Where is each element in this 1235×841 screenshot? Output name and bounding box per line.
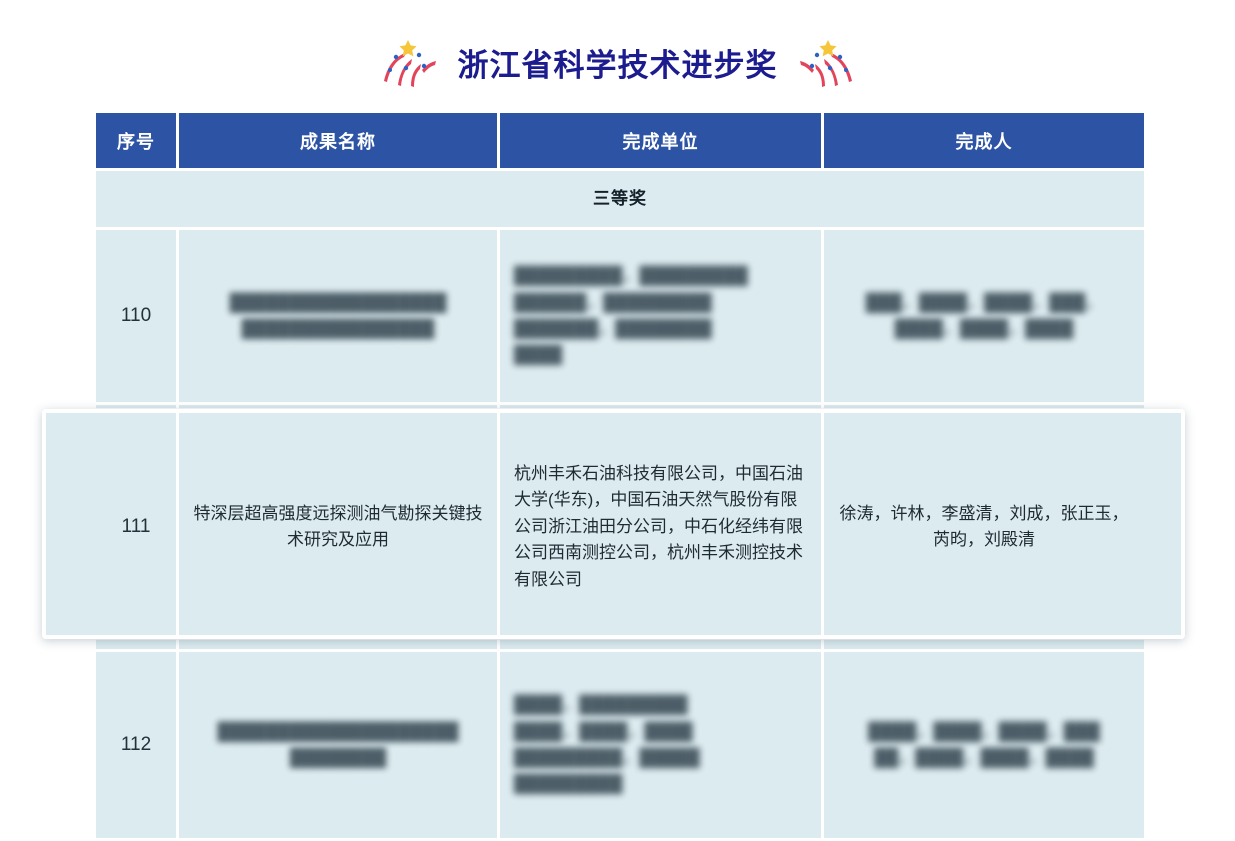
firework-icon-left (378, 37, 440, 93)
redacted-text: █████████ (514, 774, 622, 793)
award-table: 序号 成果名称 完成单位 完成人 三等奖 110 ███████████████… (93, 110, 1147, 841)
column-header-unit: 完成单位 (500, 113, 821, 168)
award-group-row: 三等奖 (96, 171, 1144, 227)
page-title-bar: 浙江省科学技术进步奖 (0, 34, 1235, 96)
page-title: 浙江省科学技术进步奖 (458, 50, 778, 81)
redacted-text: ████，█████████ (514, 695, 688, 714)
firework-icon-right (796, 37, 858, 93)
award-table-container: 序号 成果名称 完成单位 完成人 三等奖 110 ███████████████… (96, 113, 1135, 838)
row-110-unit: █████████，█████████ ██████，█████████ ███… (500, 230, 821, 402)
redacted-text: ██████████████████ (230, 293, 447, 312)
redacted-text: ████████████████████ (218, 722, 459, 741)
row-111-unit: 杭州丰禾石油科技有限公司，中国石油大学(华东)，中国石油天然气股份有限公司浙江油… (500, 405, 821, 649)
redacted-text: ████，████，████，███ (868, 722, 1100, 741)
table-row[interactable]: 112 ████████████████████ ████████ ████，█… (96, 652, 1144, 838)
redacted-text: ███，████，████，███， (866, 293, 1103, 312)
redacted-text: ██，████，████，████ (874, 748, 1094, 767)
row-index-112: 112 (96, 652, 176, 838)
redacted-text: ████，████，████ (895, 319, 1074, 338)
row-111-people: 徐涛，许林，李盛清，刘成，张正玉，芮昀，刘殿清 (824, 405, 1144, 649)
table-row-highlighted[interactable]: 111 特深层超高强度远探测油气勘探关键技术研究及应用 杭州丰禾石油科技有限公司… (96, 405, 1144, 649)
redacted-text: ██████，█████████ (514, 293, 712, 312)
row-112-unit: ████，█████████ ████，████，████ █████████，… (500, 652, 821, 838)
row-index-111: 111 (96, 405, 176, 649)
row-112-name: ████████████████████ ████████ (179, 652, 497, 838)
redacted-text: █████████，█████████ (514, 266, 748, 285)
redacted-text: ████████████████ (242, 319, 435, 338)
column-header-name: 成果名称 (179, 113, 497, 168)
table-header-row: 序号 成果名称 完成单位 完成人 (96, 113, 1144, 168)
row-index-110: 110 (96, 230, 176, 402)
award-group-label: 三等奖 (96, 171, 1144, 227)
row-110-name: ██████████████████ ████████████████ (179, 230, 497, 402)
row-112-people: ████，████，████，███ ██，████，████，████ (824, 652, 1144, 838)
redacted-text: ████ (514, 345, 562, 364)
table-header: 序号 成果名称 完成单位 完成人 (96, 113, 1144, 168)
table-row[interactable]: 110 ██████████████████ ████████████████ … (96, 230, 1144, 402)
row-110-people: ███，████，████，███， ████，████，████ (824, 230, 1144, 402)
redacted-text: █████████，█████ (514, 748, 700, 767)
redacted-text: ████，████，████ (514, 722, 693, 741)
row-111-name: 特深层超高强度远探测油气勘探关键技术研究及应用 (179, 405, 497, 649)
column-header-no: 序号 (96, 113, 176, 168)
column-header-people: 完成人 (824, 113, 1144, 168)
redacted-text: ███████，████████ (514, 319, 712, 338)
table-body: 三等奖 110 ██████████████████ █████████████… (96, 171, 1144, 838)
redacted-text: ████████ (290, 748, 386, 767)
